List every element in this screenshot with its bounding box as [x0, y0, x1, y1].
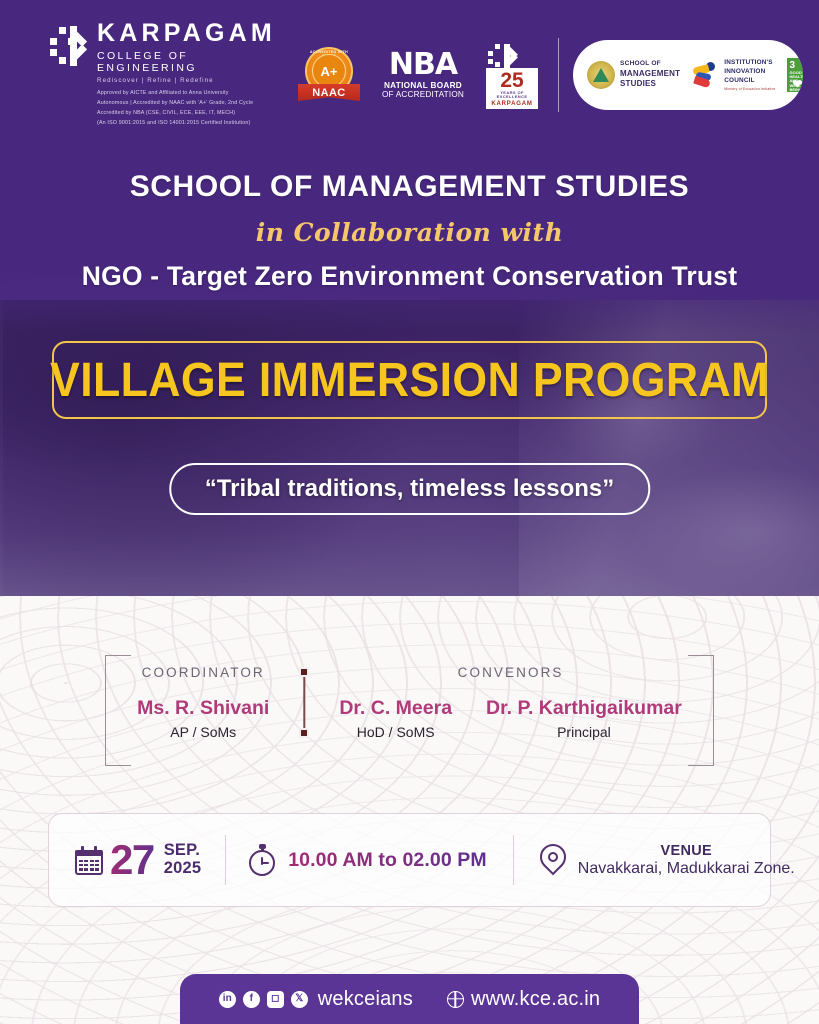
- coordinator-names: Ms. R. Shivani AP / SoMs: [137, 697, 269, 740]
- person-card: Dr. P. Karthigaikumar Principal: [486, 697, 682, 740]
- karpagam-k-icon-small: [486, 42, 538, 68]
- calendar-icon: [75, 846, 103, 875]
- years-brand: KARPAGAM: [486, 100, 538, 109]
- convenors-names: Dr. C. Meera HoD / SoMS Dr. P. Karthigai…: [339, 697, 682, 740]
- karpagam-k-logo-icon: [50, 24, 88, 68]
- header-divider: [558, 38, 559, 112]
- accreditation-line: Approved by AICTE and Affiliated to Anna…: [97, 89, 276, 99]
- karpagam-college-lockup: KARPAGAM COLLEGE OF ENGINEERING Rediscov…: [50, 21, 276, 128]
- lower-section: COORDINATOR Ms. R. Shivani AP / SoMs CON…: [0, 596, 819, 1024]
- event-year: 2025: [164, 860, 202, 878]
- social-handle[interactable]: wekceians: [318, 988, 413, 1011]
- karpagam-text-block: KARPAGAM COLLEGE OF ENGINEERING Rediscov…: [97, 21, 276, 128]
- linkedin-icon[interactable]: in: [219, 991, 236, 1008]
- nba-mark: NBA: [382, 51, 464, 80]
- iic-line-3: COUNCIL: [724, 77, 775, 86]
- naac-badge-icon: ACCREDITED WITH GRADE A+ NAAC: [298, 45, 360, 105]
- convenors-role-label: CONVENORS: [339, 665, 682, 680]
- accreditation-list: Approved by AICTE and Affiliated to Anna…: [97, 89, 276, 128]
- nba-line-1: NATIONAL BOARD: [382, 81, 464, 90]
- person-name: Dr. C. Meera: [339, 697, 452, 719]
- accreditation-line: Accredited by NBA (CSE, CIVIL, ECE, EEE,…: [97, 109, 276, 119]
- sdg-goal-3-icon: 3 GOOD HEALTH AND WELL-BEING ❤: [787, 58, 804, 92]
- location-pin-icon: [538, 842, 568, 878]
- department-title: SCHOOL OF MANAGEMENT STUDIES: [0, 170, 819, 204]
- header-logo-row: KARPAGAM COLLEGE OF ENGINEERING Rediscov…: [0, 0, 819, 150]
- coordinator-role-label: COORDINATOR: [137, 665, 269, 680]
- person-designation: Principal: [486, 724, 682, 740]
- person-designation: AP / SoMs: [137, 724, 269, 740]
- footer-bar: in f ◻ 𝕏 wekceians www.kce.ac.in: [180, 974, 639, 1024]
- organiser-separator: [291, 665, 317, 740]
- college-subtitle: COLLEGE OF ENGINEERING: [97, 50, 276, 74]
- venue-label: VENUE: [578, 843, 795, 859]
- nba-logo: NBA NATIONAL BOARD OF ACCREDITATION: [382, 51, 464, 100]
- program-title: VILLAGE IMMERSION PROGRAM: [50, 353, 769, 408]
- soms-logo: SCHOOL OF MANAGEMENT STUDIES: [587, 60, 680, 90]
- person-name: Dr. P. Karthigaikumar: [486, 697, 682, 719]
- venue-address: Navakkarai, Madukkarai Zone.: [578, 860, 795, 878]
- event-time: 10.00 AM to 02.00 PM: [288, 849, 487, 872]
- partner-logos-pill: SCHOOL OF MANAGEMENT STUDIES INSTITUTION…: [573, 40, 803, 110]
- years-caption: YEARS OF EXCELLENCE: [486, 91, 538, 99]
- person-name: Ms. R. Shivani: [137, 697, 269, 719]
- instagram-icon[interactable]: ◻: [267, 991, 284, 1008]
- website-url[interactable]: www.kce.ac.in: [471, 988, 600, 1011]
- iic-logo: INSTITUTION'S INNOVATION COUNCIL Ministr…: [691, 59, 775, 92]
- program-tagline: “Tribal traditions, timeless lessons”: [169, 463, 650, 515]
- program-title-box: VILLAGE IMMERSION PROGRAM: [52, 341, 767, 419]
- person-designation: HoD / SoMS: [339, 724, 452, 740]
- venue-text: VENUE Navakkarai, Madukkarai Zone.: [578, 843, 795, 878]
- facebook-icon[interactable]: f: [243, 991, 260, 1008]
- globe-icon: [447, 991, 464, 1008]
- college-tagline: Rediscover | Refine | Redefine: [97, 77, 276, 84]
- soms-crest-icon: [587, 61, 615, 89]
- iic-swoosh-icon: [691, 62, 719, 88]
- accreditation-line: Autonomous | Accredited by NAAC with 'A+…: [97, 99, 276, 109]
- date-cell: 27 SEP. 2025: [49, 841, 201, 880]
- convenors-group: CONVENORS Dr. C. Meera HoD / SoMS Dr. P.…: [333, 665, 688, 740]
- time-cell: 10.00 AM to 02.00 PM: [226, 844, 487, 876]
- event-details-card: 27 SEP. 2025 10.00 AM to 02.00 PM: [48, 813, 771, 907]
- iic-ministry: Ministry of Education Initiative: [724, 87, 775, 92]
- event-month: SEP.: [164, 842, 202, 860]
- soms-line-3: STUDIES: [620, 79, 680, 90]
- nba-line-2: OF ACCREDITATION: [382, 90, 464, 99]
- stopwatch-icon: [248, 844, 278, 876]
- hero-section: KARPAGAM COLLEGE OF ENGINEERING Rediscov…: [0, 0, 819, 596]
- collaboration-text: in Collaboration with: [0, 218, 819, 247]
- iic-text: INSTITUTION'S INNOVATION COUNCIL Ministr…: [724, 59, 775, 92]
- years-number-block: 25 YEARS OF EXCELLENCE: [486, 68, 538, 100]
- ngo-partner-name: NGO - Target Zero Environment Conservati…: [0, 261, 819, 292]
- organisers-inner: COORDINATOR Ms. R. Shivani AP / SoMs CON…: [131, 651, 688, 766]
- event-month-year: SEP. 2025: [164, 842, 202, 878]
- college-name: KARPAGAM: [97, 21, 276, 46]
- accreditation-line: (An ISO 9001:2015 and ISO 14001:2015 Cer…: [97, 119, 276, 129]
- event-poster: KARPAGAM COLLEGE OF ENGINEERING Rediscov…: [0, 0, 819, 1024]
- website-link[interactable]: www.kce.ac.in: [447, 988, 600, 1011]
- venue-cell: VENUE Navakkarai, Madukkarai Zone.: [514, 842, 795, 878]
- naac-grade: A+: [312, 54, 346, 88]
- x-icon[interactable]: 𝕏: [291, 991, 308, 1008]
- sdg3-heartbeat-icon: ❤: [787, 78, 804, 90]
- bracket-left: [105, 655, 131, 766]
- organisers-section: COORDINATOR Ms. R. Shivani AP / SoMs CON…: [0, 651, 819, 766]
- soms-line-2: MANAGEMENT: [620, 69, 680, 80]
- bracket-right: [688, 655, 714, 766]
- soms-text: SCHOOL OF MANAGEMENT STUDIES: [620, 60, 680, 90]
- naac-label: NAAC: [298, 84, 360, 101]
- person-card: Ms. R. Shivani AP / SoMs: [137, 697, 269, 740]
- iic-line-2: INNOVATION: [724, 68, 775, 77]
- soms-line-1: SCHOOL OF: [620, 60, 680, 69]
- coordinator-group: COORDINATOR Ms. R. Shivani AP / SoMs: [131, 665, 275, 740]
- iic-line-1: INSTITUTION'S: [724, 59, 775, 68]
- years-number: 25: [500, 69, 523, 92]
- 25-years-logo: 25 YEARS OF EXCELLENCE KARPAGAM: [486, 42, 538, 109]
- event-day: 27: [110, 841, 154, 880]
- social-links[interactable]: in f ◻ 𝕏 wekceians: [219, 988, 413, 1011]
- person-card: Dr. C. Meera HoD / SoMS: [339, 697, 452, 740]
